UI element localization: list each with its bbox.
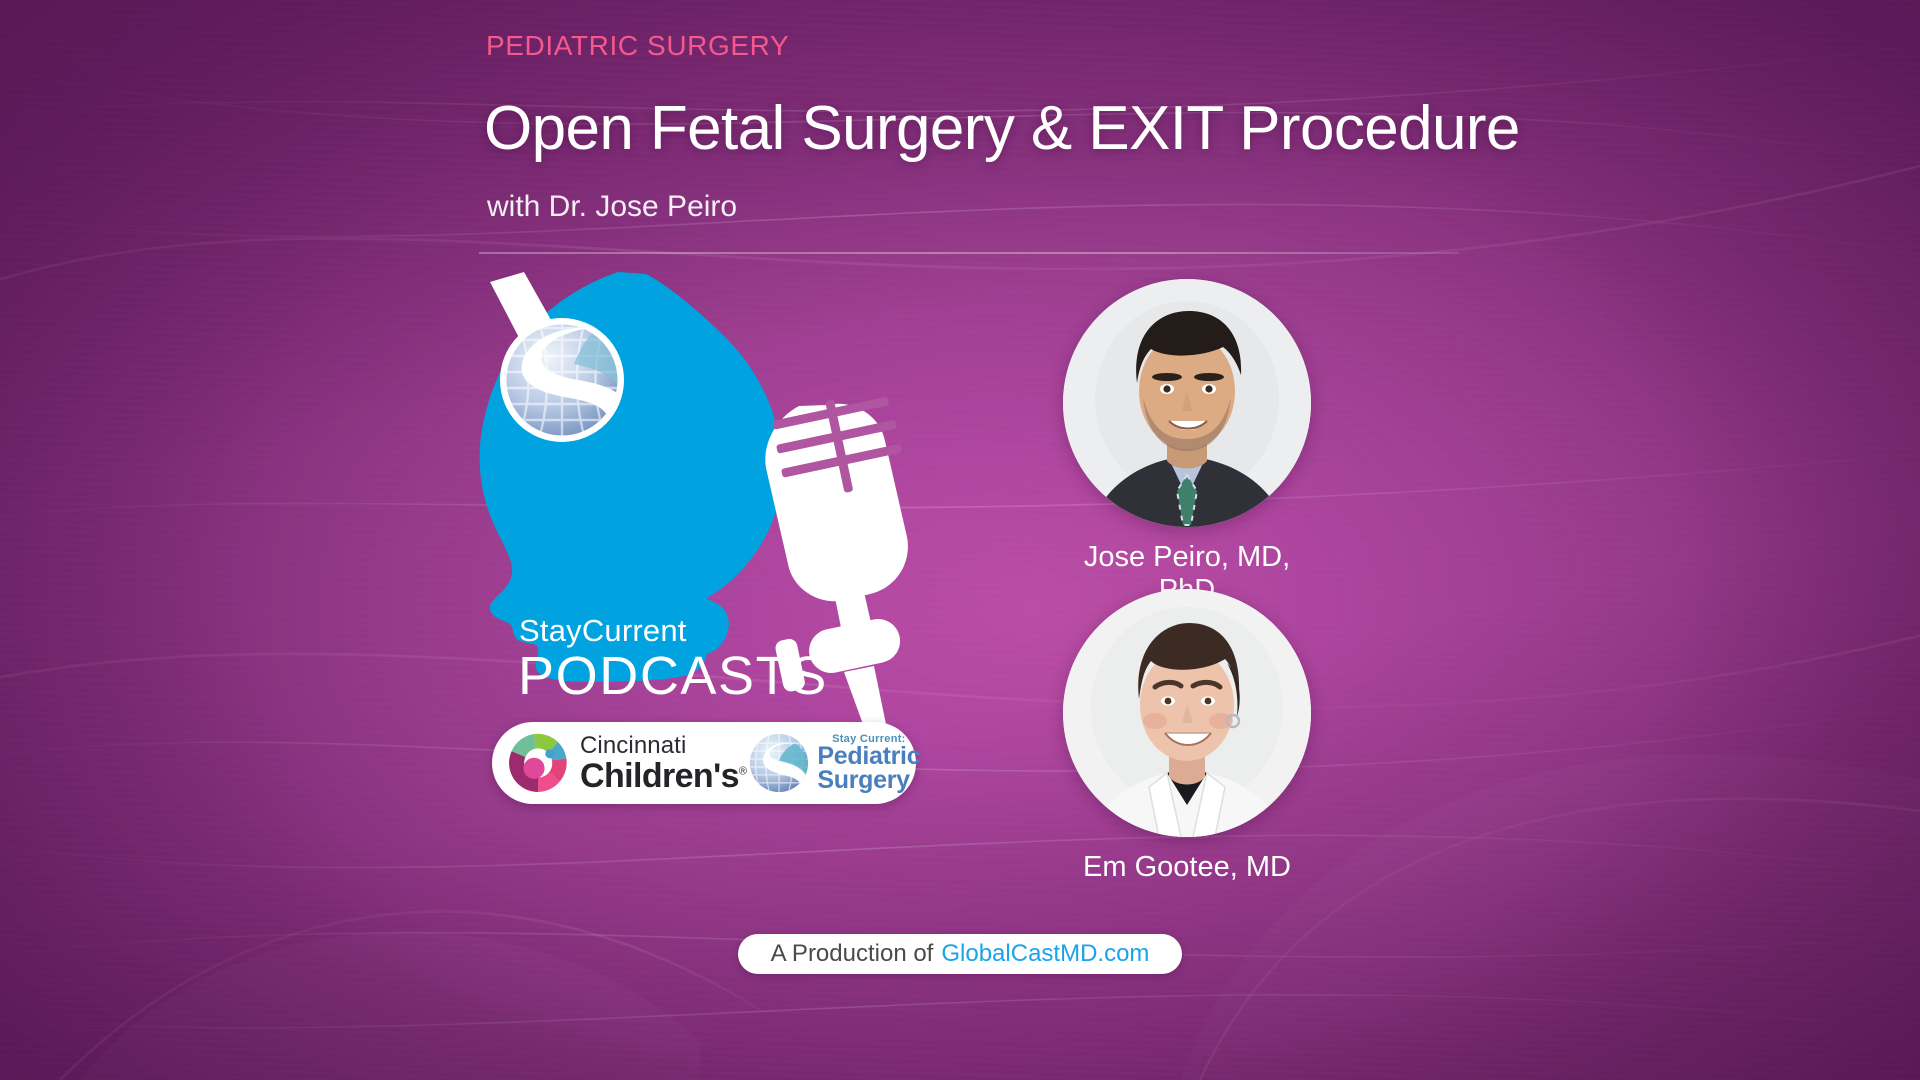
- avatar: [1063, 279, 1311, 527]
- pediatric-surgery-globe-icon: [746, 730, 812, 796]
- speaker-photo-jose-peiro: [1063, 279, 1311, 527]
- series-line2: Surgery: [817, 769, 920, 793]
- registered-mark: ®: [739, 765, 747, 777]
- header-divider: [479, 252, 1459, 254]
- avatar: [1063, 589, 1311, 837]
- slide-canvas: PEDIATRIC SURGERY Open Fetal Surgery & E…: [0, 0, 1920, 1080]
- page-title: Open Fetal Surgery & EXIT Procedure: [484, 98, 1520, 160]
- cincinnati-childrens-logo-icon: [505, 730, 571, 796]
- production-site-link[interactable]: GlobalCastMD.com: [941, 940, 1149, 968]
- speaker-name: Em Gootee, MD: [1063, 851, 1311, 884]
- cincinnati-childrens-wordmark: Cincinnati Children's®: [580, 734, 746, 793]
- podcast-brand-line2: PODCASTS: [518, 645, 828, 707]
- podcast-brand-line1: StayCurrent: [519, 613, 687, 649]
- category-eyebrow: PEDIATRIC SURGERY: [486, 30, 789, 62]
- childrens-label: Children's®: [580, 759, 746, 793]
- production-credit-bar[interactable]: A Production of GlobalCastMD.com: [738, 934, 1182, 974]
- production-prefix: A Production of: [771, 940, 934, 968]
- speaker-card-1: Jose Peiro, MD, PhD: [1063, 279, 1311, 607]
- series-line1: Pediatric: [817, 745, 920, 769]
- pediatric-surgery-wordmark: Stay Current: Pediatric Surgery: [817, 734, 920, 793]
- speaker-card-2: Em Gootee, MD: [1063, 589, 1311, 884]
- speaker-photo-em-gootee: [1063, 589, 1311, 837]
- cincinnati-label: Cincinnati: [580, 734, 746, 758]
- page-subtitle: with Dr. Jose Peiro: [487, 190, 737, 224]
- cincinnati-childrens-badge: Cincinnati Children's®: [492, 722, 916, 804]
